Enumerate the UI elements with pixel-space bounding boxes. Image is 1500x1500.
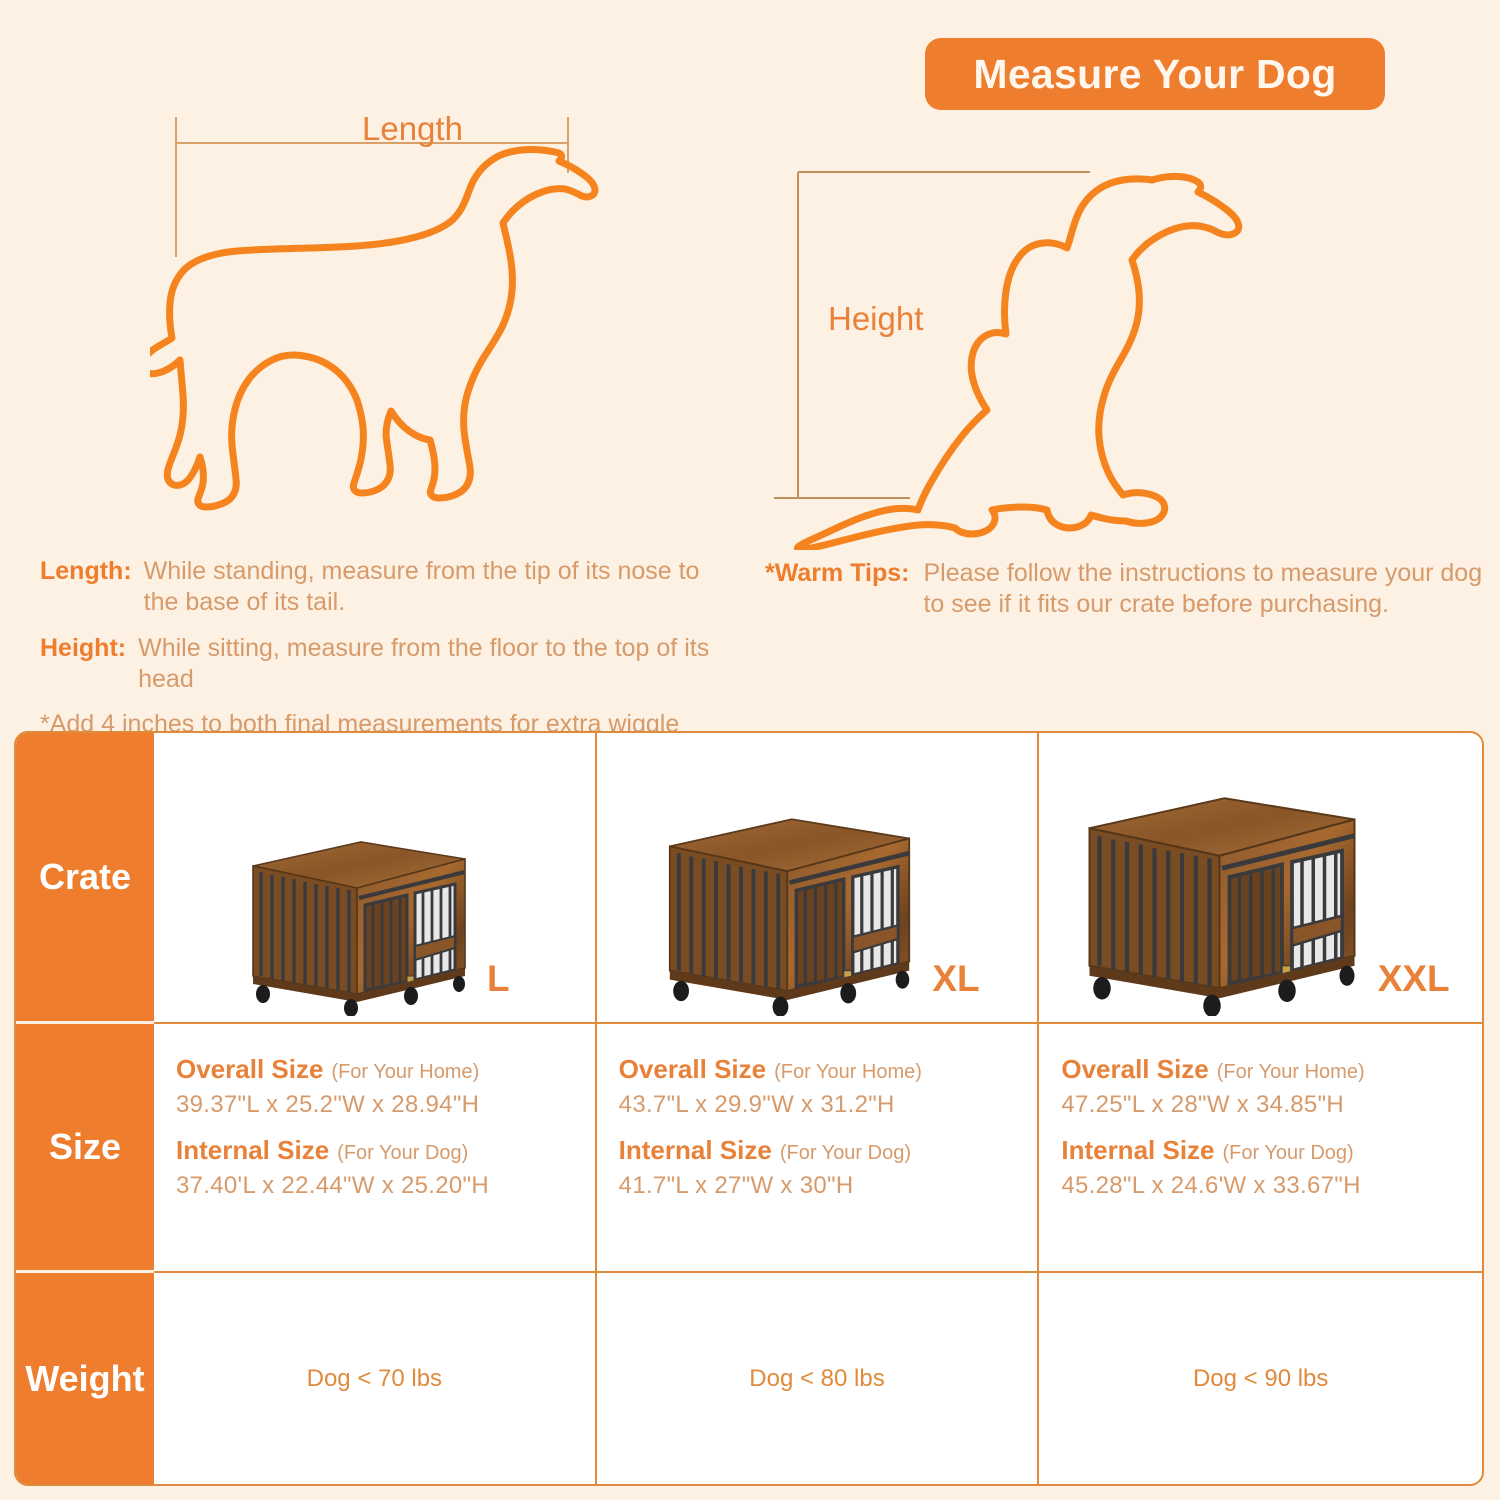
table-row-label-column: Crate Size Weight: [16, 733, 154, 1484]
instruction-height-key: Height:: [40, 633, 126, 696]
internal-size-value-xl: 41.7"L x 27"W x 30"H: [619, 1172, 1038, 1200]
internal-size-value-l: 37.40'L x 22.44"W x 25.20"H: [176, 1172, 595, 1200]
size-cell-xl: Overall Size(For Your Home) 43.7"L x 29.…: [597, 1024, 1040, 1271]
warm-tips: *Warm Tips: Please follow the instructio…: [765, 558, 1485, 635]
weight-value-xxl: Dog < 90 lbs: [1193, 1365, 1328, 1393]
instruction-length-key: Length:: [40, 556, 132, 619]
size-tag-xl: XL: [932, 958, 979, 1000]
weight-cell-xl: Dog < 80 lbs: [597, 1273, 1040, 1484]
crate-cell-l: L: [154, 733, 597, 1022]
overall-size-block-xl: Overall Size(For Your Home) 43.7"L x 29.…: [619, 1054, 1038, 1119]
instruction-height-text: While sitting, measure from the floor to…: [138, 633, 740, 696]
internal-size-block-xxl: Internal Size(For Your Dog) 45.28"L x 24…: [1061, 1135, 1482, 1200]
internal-size-sub-xl: (For Your Dog): [780, 1142, 911, 1164]
internal-size-block-xl: Internal Size(For Your Dog) 41.7"L x 27"…: [619, 1135, 1038, 1200]
internal-size-label-xl: Internal Size: [619, 1135, 772, 1165]
instruction-height: Height: While sitting, measure from the …: [40, 633, 740, 696]
overall-size-value-xxl: 47.25"L x 28"W x 34.85"H: [1061, 1091, 1482, 1119]
sitting-dog-outline: [797, 176, 1238, 549]
row-label-crate: Crate: [16, 733, 154, 1024]
weight-value-xl: Dog < 80 lbs: [749, 1365, 884, 1393]
weight-value-l: Dog < 70 lbs: [307, 1365, 442, 1393]
weight-cell-l: Dog < 70 lbs: [154, 1273, 597, 1484]
standing-dog-outline: [150, 150, 595, 507]
internal-size-sub-xxl: (For Your Dog): [1223, 1142, 1354, 1164]
overall-size-block-l: Overall Size(For Your Home) 39.37"L x 25…: [176, 1054, 595, 1119]
measure-your-dog-badge: Measure Your Dog: [925, 38, 1385, 110]
overall-size-label-l: Overall Size: [176, 1054, 323, 1084]
crate-comparison-table: Crate Size Weight: [14, 731, 1484, 1486]
table-data-area: L: [154, 733, 1482, 1484]
standing-dog-illustration: [150, 95, 670, 535]
instruction-length: Length: While standing, measure from the…: [40, 556, 740, 619]
overall-size-sub-xxl: (For Your Home): [1217, 1061, 1365, 1083]
overall-size-value-xl: 43.7"L x 29.9"W x 31.2"H: [619, 1091, 1038, 1119]
infographic-page: Measure Your Dog Length Heigh: [0, 0, 1500, 1500]
height-dimension-arrow: [774, 172, 1090, 498]
crate-image-xl: [654, 801, 916, 1016]
internal-size-label-l: Internal Size: [176, 1135, 329, 1165]
sitting-dog-illustration: [760, 150, 1300, 550]
crate-cell-xxl: XXL: [1039, 733, 1482, 1022]
internal-size-sub-l: (For Your Dog): [337, 1142, 468, 1164]
badge-label: Measure Your Dog: [973, 51, 1336, 98]
weight-cell-xxl: Dog < 90 lbs: [1039, 1273, 1482, 1484]
weight-row: Dog < 70 lbs Dog < 80 lbs Dog < 90 lbs: [154, 1273, 1482, 1484]
internal-size-block-l: Internal Size(For Your Dog) 37.40'L x 22…: [176, 1135, 595, 1200]
crate-cell-xl: XL: [597, 733, 1040, 1022]
warm-tips-text: Please follow the instructions to measur…: [923, 558, 1485, 621]
internal-size-value-xxl: 45.28"L x 24.6'W x 33.67"H: [1061, 1172, 1482, 1200]
crate-row: L: [154, 733, 1482, 1024]
internal-size-label-xxl: Internal Size: [1061, 1135, 1214, 1165]
size-cell-l: Overall Size(For Your Home) 39.37"L x 25…: [154, 1024, 597, 1271]
height-label: Height: [828, 300, 923, 338]
size-tag-xxl: XXL: [1378, 958, 1450, 1000]
overall-size-sub-xl: (For Your Home): [774, 1061, 922, 1083]
overall-size-label-xl: Overall Size: [619, 1054, 766, 1084]
overall-size-value-l: 39.37"L x 25.2"W x 28.94"H: [176, 1091, 595, 1119]
size-row: Overall Size(For Your Home) 39.37"L x 25…: [154, 1024, 1482, 1273]
warm-tips-key: *Warm Tips:: [765, 558, 909, 621]
crate-image-xxl: [1072, 778, 1362, 1016]
overall-size-block-xxl: Overall Size(For Your Home) 47.25"L x 28…: [1061, 1054, 1482, 1119]
overall-size-label-xxl: Overall Size: [1061, 1054, 1208, 1084]
size-cell-xxl: Overall Size(For Your Home) 47.25"L x 28…: [1039, 1024, 1482, 1271]
row-label-weight: Weight: [16, 1273, 154, 1484]
length-label: Length: [362, 110, 463, 148]
warm-tips-row: *Warm Tips: Please follow the instructio…: [765, 558, 1485, 621]
overall-size-sub-l: (For Your Home): [331, 1061, 479, 1083]
row-label-size: Size: [16, 1024, 154, 1273]
instruction-length-text: While standing, measure from the tip of …: [144, 556, 740, 619]
crate-image-l: [239, 826, 471, 1016]
size-tag-l: L: [487, 958, 510, 1000]
